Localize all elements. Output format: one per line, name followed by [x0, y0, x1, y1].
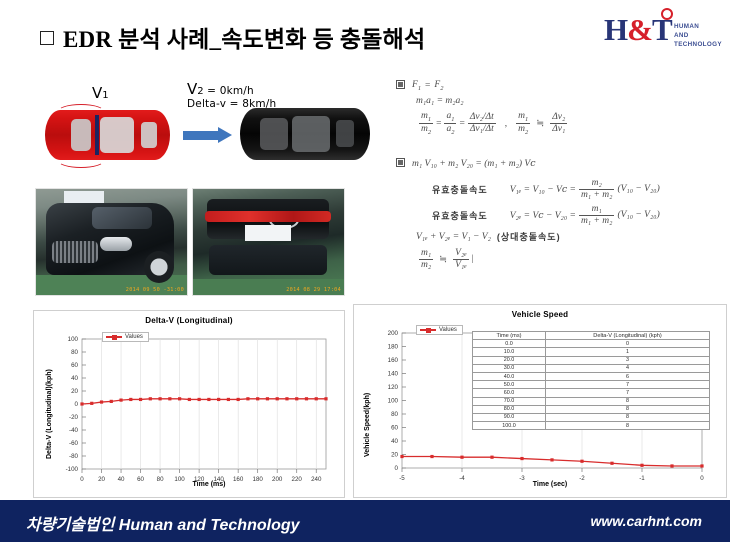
table-row: 70.08 [473, 397, 710, 405]
logo-degree-circle-icon [661, 8, 673, 20]
table-cell: 50.0 [473, 381, 546, 389]
svg-text:0: 0 [75, 401, 79, 408]
svg-text:140: 140 [388, 371, 399, 378]
chart-title: Vehicle Speed [354, 310, 726, 319]
svg-text:160: 160 [388, 357, 399, 364]
svg-text:40: 40 [71, 375, 78, 382]
formula-v2e: 유효충돌속도 V₂ₑ = V𝑐 − V₂₀ = m₁m₁ + m₂ (V₁₀ −… [432, 204, 660, 226]
legend-label: Values [125, 334, 143, 340]
photo-timestamp: 2014 08 29 17:04 [286, 287, 341, 293]
svg-text:0: 0 [395, 465, 399, 472]
table-cell: 8 [546, 413, 710, 421]
logo-letter-h: H [604, 12, 627, 47]
delta-v-data-table: Time (ms)Delta-V (Longitudinal) (kph) 0.… [472, 331, 710, 430]
v1-speed-label: V1 [92, 84, 109, 102]
formula-mass-ratio: m1m2 = a1a2 = Δv₂/ΔtΔv₁/Δt , m1m2 ≒ Δv₂Δ… [416, 111, 570, 136]
svg-text:-40: -40 [69, 427, 79, 434]
page-title: EDR 분석 사례_속도변화 등 충돌해석 [40, 20, 425, 54]
page-title-text: EDR 분석 사례_속도변화 등 충돌해석 [63, 27, 425, 52]
svg-text:40: 40 [391, 438, 398, 445]
table-cell: 70.0 [473, 397, 546, 405]
table-cell: 30.0 [473, 364, 546, 372]
table-cell: 0.0 [473, 340, 546, 348]
svg-text:-20: -20 [69, 414, 79, 421]
logo-tagline-line1: HUMAN [674, 22, 722, 31]
table-cell: 40.0 [473, 372, 546, 380]
table-cell: 1 [546, 348, 710, 356]
table-row: 50.07 [473, 381, 710, 389]
v2-speed-label: V2 = 0km/h Delta-v = 8km/h [187, 81, 276, 110]
damage-photos: 2014 09 50 -31:00 2014 08 29 17:04 [35, 188, 345, 296]
table-body: 0.0010.0120.0330.0440.0650.0760.0770.088… [473, 340, 710, 430]
svg-text:200: 200 [388, 330, 399, 337]
photo-timestamp: 2014 09 50 -31:00 [126, 287, 184, 293]
table-cell: 0 [546, 340, 710, 348]
table-row: 30.04 [473, 364, 710, 372]
square-bullet-icon [396, 158, 405, 167]
chart-legend: Values [416, 325, 463, 335]
table-col-header: Delta-V (Longitudinal) (kph) [546, 332, 710, 340]
chart-x-axis-label: Time (ms) [54, 481, 364, 488]
logo-ampersand: & [627, 12, 652, 47]
square-bullet-icon [40, 31, 54, 45]
table-cell: 10.0 [473, 348, 546, 356]
svg-text:120: 120 [388, 384, 399, 391]
svg-text:100: 100 [68, 336, 79, 343]
svg-text:-80: -80 [69, 453, 79, 460]
collision-diagram: V1 V2 = 0km/h Delta-v = 8km/h [35, 78, 380, 178]
table-header-row: Time (ms)Delta-V (Longitudinal) (kph) [473, 332, 710, 340]
table-row: 10.01 [473, 348, 710, 356]
footer-company-name: 차량기술법인 Human and Technology [26, 511, 300, 535]
table-cell: 8 [546, 405, 710, 413]
formula-ma-equality: m₁a₁ = m₂a₂ [416, 96, 464, 106]
logo-tagline: HUMAN AND TECHNOLOGY [674, 22, 722, 49]
front-damage-photo: 2014 09 50 -31:00 [35, 188, 188, 296]
formula-relative-speed: V₁ₑ + V₂ₑ = V₁ − V₂ (상대충돌속도) [416, 230, 561, 243]
table-cell: 90.0 [473, 413, 546, 421]
table-row: 100.08 [473, 422, 710, 430]
chart-y-axis-label: Vehicle Speed(kph) [364, 393, 371, 457]
chart-y-axis-label: Delta-V (Longitudinal)(kph) [46, 369, 53, 459]
company-logo: H&T HUMAN AND TECHNOLOGY [604, 8, 722, 58]
chart-plot-area: -100-80-60-40-20020406080100020406080100… [34, 327, 342, 495]
table-row: 40.06 [473, 372, 710, 380]
black-car-top-view-icon [240, 108, 370, 160]
motion-arrow-icon [183, 127, 235, 143]
footer-website-url: www.carhnt.com [590, 513, 702, 529]
table-cell: 7 [546, 389, 710, 397]
svg-text:60: 60 [71, 362, 78, 369]
table-row: 60.07 [473, 389, 710, 397]
table-col-header: Time (ms) [473, 332, 546, 340]
table-cell: 6 [546, 372, 710, 380]
logo-tagline-line3: TECHNOLOGY [674, 40, 722, 49]
table-cell: 8 [546, 397, 710, 405]
table-cell: 100.0 [473, 422, 546, 430]
table-row: 0.00 [473, 340, 710, 348]
table-cell: 4 [546, 364, 710, 372]
formula-v1e: 유효충돌속도 V₁ₑ = V₁₀ − V𝑐 = m₂m₁ + m₂ (V₁₀ −… [432, 178, 660, 200]
svg-text:-100: -100 [66, 466, 79, 473]
legend-label: Values [439, 327, 457, 333]
formula-momentum: m₁ V₁₀ + m₂ V₂₀ = (m₁ + m₂) V𝑐 [396, 158, 536, 169]
delta-v-longitudinal-chart: Delta-V (Longitudinal) -100-80-60-40-200… [33, 310, 345, 498]
formula-f1-f2: F1 = F2 [396, 80, 443, 92]
svg-text:180: 180 [388, 344, 399, 351]
svg-text:20: 20 [71, 388, 78, 395]
svg-text:60: 60 [391, 425, 398, 432]
formula-panel: F1 = F2 m₁a₁ = m₂a₂ m1m2 = a1a2 = Δv₂/Δt… [396, 80, 724, 298]
vehicle-speed-chart: Vehicle Speed 02040608010012014016018020… [353, 304, 727, 498]
legend-line-marker-icon [106, 336, 122, 338]
legend-line-marker-icon [420, 329, 436, 331]
svg-text:20: 20 [391, 452, 398, 459]
table-cell: 80.0 [473, 405, 546, 413]
slide-header: EDR 분석 사례_속도변화 등 충돌해석 H&T HUMAN AND TECH… [0, 0, 730, 66]
chart-title: Delta-V (Longitudinal) [34, 316, 344, 325]
svg-text:100: 100 [388, 398, 399, 405]
table-row: 80.08 [473, 405, 710, 413]
svg-text:-60: -60 [69, 440, 79, 447]
table-cell: 3 [546, 356, 710, 364]
rear-damage-photo: 2014 08 29 17:04 [192, 188, 345, 296]
square-bullet-icon [396, 80, 405, 89]
table-cell: 8 [546, 422, 710, 430]
logo-mark: H&T [604, 14, 672, 45]
formula-mass-speed-ratio: m₁m₂ ≒ V₂ₑV₁ₑ | [416, 248, 474, 270]
table-cell: 60.0 [473, 389, 546, 397]
chart-x-axis-label: Time (sec) [364, 481, 730, 488]
table-cell: 20.0 [473, 356, 546, 364]
svg-text:80: 80 [391, 411, 398, 418]
logo-tagline-line2: AND [674, 31, 722, 40]
chart-legend: Values [102, 332, 149, 342]
slide-footer: 차량기술법인 Human and Technology www.carhnt.c… [0, 500, 730, 542]
table-row: 20.03 [473, 356, 710, 364]
table-cell: 7 [546, 381, 710, 389]
table-row: 90.08 [473, 413, 710, 421]
svg-text:80: 80 [71, 349, 78, 356]
